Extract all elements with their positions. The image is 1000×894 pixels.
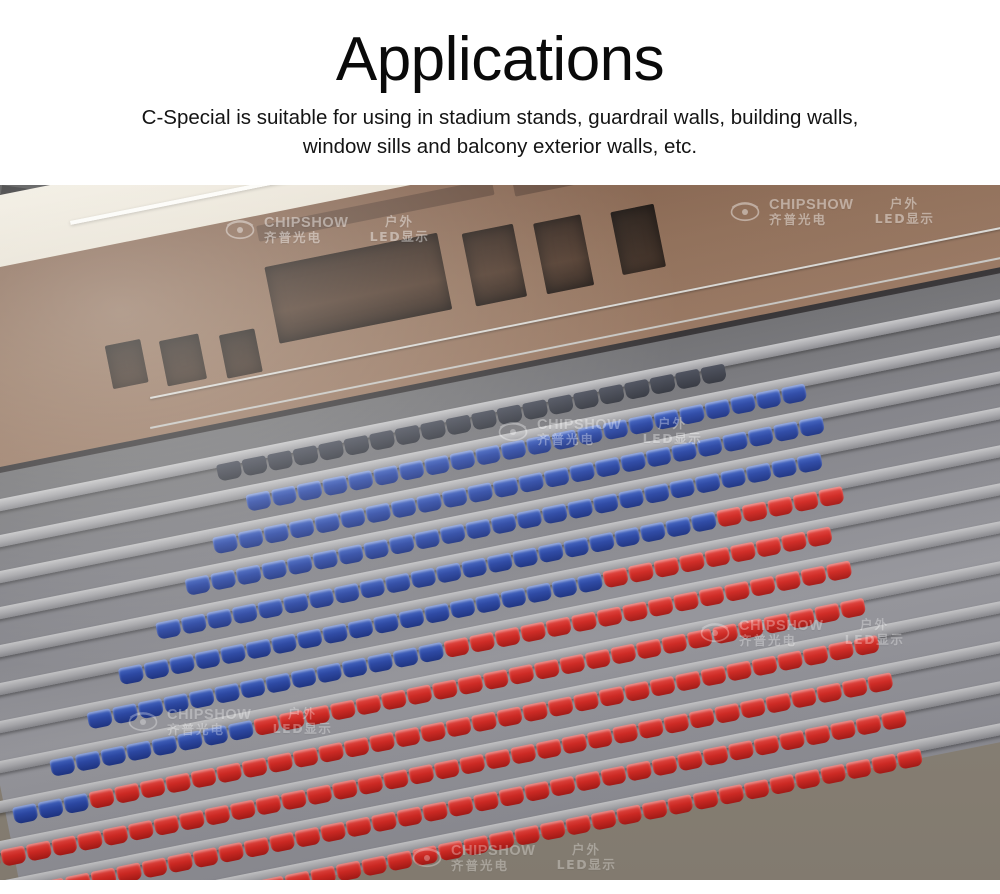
stadium-seat	[292, 747, 319, 768]
stadium-seat	[577, 572, 604, 593]
stadium-seat	[649, 676, 676, 697]
stadium-seat	[320, 822, 347, 843]
stadium-seat	[643, 483, 670, 504]
stadium-seat	[777, 650, 804, 671]
stadium-seat	[465, 519, 492, 540]
stadium-seat	[818, 486, 845, 507]
stadium-seat	[190, 767, 217, 788]
stadium-seat	[443, 637, 470, 658]
stadium-seat	[526, 582, 553, 603]
stadium-seat	[491, 513, 518, 534]
stadium-seat	[126, 740, 153, 761]
stadium-seat	[202, 725, 229, 746]
watermark-brand-cn: 齐普光电	[739, 634, 824, 648]
led-art-player-yellow	[291, 463, 385, 557]
stadium-seat	[367, 652, 394, 673]
stadium-seat	[449, 598, 476, 619]
stadium-seat	[538, 542, 565, 563]
stadium-seat	[392, 647, 419, 668]
stadium-seat	[534, 659, 561, 680]
stadium-seat	[826, 560, 853, 581]
stadium-seat	[432, 679, 459, 700]
stadium-seat	[469, 632, 496, 653]
stadium-seat	[585, 649, 612, 670]
stadium-seat	[726, 660, 753, 681]
stadium-seat	[700, 666, 727, 687]
stadium-seat	[781, 531, 808, 552]
watermark-brand-en: CHIPSHOW	[167, 707, 252, 723]
stadium-seat	[90, 867, 117, 880]
stadium-seat	[702, 745, 729, 766]
stadium-seat	[422, 801, 449, 822]
stadium-seat	[194, 649, 221, 670]
stadium-seat	[755, 537, 782, 558]
seating-step	[0, 546, 1000, 789]
stadium-seat	[220, 644, 247, 665]
stadium-seat	[508, 664, 535, 685]
seat-group	[0, 748, 923, 880]
stadium-seat	[241, 757, 268, 778]
wall-opening	[462, 224, 527, 307]
stadium-seat	[49, 756, 76, 777]
stadium-seat	[610, 644, 637, 665]
stadium-seat	[589, 532, 616, 553]
stadium-seat	[791, 688, 818, 709]
stadium-seat	[687, 628, 714, 649]
stadium-seat	[616, 804, 643, 825]
stadium-seat	[500, 588, 527, 609]
stadium-seat	[698, 586, 725, 607]
stadium-seat	[177, 730, 204, 751]
stadium-seat	[290, 667, 317, 688]
stadium-seat	[232, 603, 259, 624]
page-subtitle-line-2: window sills and balcony exterior walls,…	[100, 132, 900, 161]
stadium-seat	[345, 816, 372, 837]
stadium-seat	[100, 745, 127, 766]
stadium-seat	[510, 744, 537, 765]
stadium-seat	[489, 830, 516, 851]
stadium-seat	[420, 722, 447, 743]
wall-beam	[512, 185, 711, 197]
stadium-seat	[341, 657, 368, 678]
stadium-seat	[418, 642, 445, 663]
led-art-player-red	[371, 436, 483, 545]
stadium-seat	[749, 576, 776, 597]
stadium-seat	[516, 508, 543, 529]
stadium-seat	[167, 852, 194, 873]
stadium-seat	[210, 570, 237, 591]
stadium-seat	[336, 860, 363, 880]
watermark-brand-en: CHIPSHOW	[739, 618, 824, 634]
stadium-seat	[593, 493, 620, 514]
stadium-seat	[75, 751, 102, 772]
stadium-seat	[622, 601, 649, 622]
stadium-seat	[494, 627, 521, 648]
stadium-seat	[204, 805, 231, 826]
stadium-seat	[793, 491, 820, 512]
stadium-seat	[598, 686, 625, 707]
stadium-seat	[802, 645, 829, 666]
stadium-seat	[473, 791, 500, 812]
stadium-seat	[612, 723, 639, 744]
stadium-seat	[87, 708, 114, 729]
stadium-seat	[663, 713, 690, 734]
stadium-seat	[447, 796, 474, 817]
stadium-seat	[694, 473, 721, 494]
stadium-seat	[445, 716, 472, 737]
stadium-seat	[334, 583, 361, 604]
watermark-brand-cn: 齐普光电	[167, 723, 252, 737]
stadium-seat	[665, 517, 692, 538]
stadium-seat	[383, 769, 410, 790]
stadium-seat	[567, 498, 594, 519]
stadium-seat	[304, 705, 331, 726]
seating-row	[0, 586, 1000, 843]
stadium-seat	[767, 496, 794, 517]
stadium-seat	[651, 755, 678, 776]
stadium-seat	[689, 708, 716, 729]
seating-step	[0, 708, 1000, 880]
watermark-tagline-2: LED显示	[557, 858, 617, 873]
stadium-seat	[751, 655, 778, 676]
stadium-seat	[675, 671, 702, 692]
stadium-seat	[155, 618, 182, 639]
stadium-seat	[265, 673, 292, 694]
stadium-seat	[740, 698, 767, 719]
stadium-seat	[128, 820, 155, 841]
stadium-seat	[236, 564, 263, 585]
stadium-seat	[677, 750, 704, 771]
stadium-seat	[744, 779, 771, 800]
watermark-tagline-2: LED显示	[273, 722, 333, 737]
stadium-seat	[640, 522, 667, 543]
stadium-seat	[440, 524, 467, 545]
stadium-seat	[667, 794, 694, 815]
stadium-seat	[714, 703, 741, 724]
stadium-seat	[88, 788, 115, 809]
stadium-seat	[438, 840, 465, 861]
watermark-tagline-1: 户外	[288, 707, 317, 722]
stadium-seat	[0, 845, 27, 866]
watermark-bottom-center: CHIPSHOW 齐普光电 户外 LED显示	[412, 843, 616, 873]
stadium-seat	[306, 784, 333, 805]
stadium-seat	[830, 720, 857, 741]
stadium-seat	[257, 598, 284, 619]
stadium-seat	[816, 682, 843, 703]
stadium-seat	[520, 622, 547, 643]
stadium-seat	[881, 709, 908, 730]
stadium-seat	[398, 608, 425, 629]
stadium-seat	[283, 593, 310, 614]
stadium-seat	[896, 748, 923, 769]
stadium-seat	[228, 720, 255, 741]
stadium-seat	[679, 552, 706, 573]
stadium-seat	[549, 776, 576, 797]
stadium-seat	[642, 799, 669, 820]
wall-opening	[105, 339, 149, 389]
stadium-seat	[461, 557, 488, 578]
stadium-seat	[742, 501, 769, 522]
stadium-seat	[112, 703, 139, 724]
stadium-seat	[310, 866, 337, 880]
stadium-seat	[575, 771, 602, 792]
stadium-seat	[179, 810, 206, 831]
stadium-seat	[591, 809, 618, 830]
stadium-seat	[261, 559, 288, 580]
stadium-seat	[371, 811, 398, 832]
stadium-seat	[638, 718, 665, 739]
stadium-seat	[216, 762, 243, 783]
watermark-tagline-1: 户外	[860, 618, 889, 633]
stadium-seat	[294, 827, 321, 848]
stadium-seat	[718, 784, 745, 805]
stadium-seat	[243, 837, 270, 858]
watermark-brand-en: CHIPSHOW	[451, 843, 536, 859]
stadium-seat	[587, 728, 614, 749]
stadium-seat	[279, 710, 306, 731]
stadium-seat	[385, 573, 412, 594]
wall-opening	[219, 328, 263, 378]
stadium-seat	[487, 552, 514, 573]
stadium-seat	[840, 598, 867, 619]
stadium-seat	[691, 512, 718, 533]
seat-group	[87, 560, 853, 729]
stadium-seat	[626, 760, 653, 781]
stadium-seat	[628, 562, 655, 583]
stadium-seat	[381, 689, 408, 710]
stadium-seat	[653, 557, 680, 578]
stadium-seat	[255, 795, 282, 816]
stadium-seat	[296, 628, 323, 649]
stadium-seat	[387, 850, 414, 871]
stadium-seat	[624, 681, 651, 702]
stadium-seat	[369, 732, 396, 753]
stadium-seat	[373, 613, 400, 634]
stadium-seat	[281, 789, 308, 810]
stadium-seat	[561, 733, 588, 754]
seating-row	[0, 626, 1000, 880]
stadium-seat	[514, 825, 541, 846]
stadium-seat	[483, 669, 510, 690]
stadium-seat	[547, 696, 574, 717]
stadium-seat	[724, 581, 751, 602]
stadium-seat	[63, 793, 90, 814]
stadium-seat	[563, 537, 590, 558]
stadium-seat	[77, 830, 104, 851]
stadium-seat	[151, 735, 178, 756]
stadium-seat	[137, 698, 164, 719]
stadium-seat	[846, 759, 873, 780]
stadium-seat	[51, 835, 78, 856]
stadium-seat	[571, 611, 598, 632]
wall-opening	[159, 333, 207, 386]
stadium-seat	[496, 706, 523, 727]
stadium-seat	[551, 577, 578, 598]
seating-step	[0, 626, 1000, 869]
stadium-seat	[459, 754, 486, 775]
wall-opening	[264, 233, 452, 344]
stadium-seat	[434, 759, 461, 780]
header-section: Applications C-Special is suitable for u…	[0, 0, 1000, 185]
stadium-seat	[712, 623, 739, 644]
stadium-seat	[239, 678, 266, 699]
stadium-seat	[332, 779, 359, 800]
stadium-seat	[600, 766, 627, 787]
stadium-seat	[153, 815, 180, 836]
stadium-seat	[65, 873, 92, 880]
stadium-seat	[185, 575, 212, 596]
chipshow-eye-logo-icon	[128, 707, 158, 737]
watermark-brand: CHIPSHOW 齐普光电	[451, 843, 536, 873]
stadium-seat	[0, 851, 2, 872]
stadium-seat	[457, 674, 484, 695]
stadium-seat	[673, 591, 700, 612]
stadium-seat	[308, 588, 335, 609]
stadium-seat	[143, 659, 170, 680]
seat-group	[0, 709, 908, 880]
stadium-seat	[614, 527, 641, 548]
player-leg	[412, 503, 432, 539]
stadium-seat	[871, 753, 898, 774]
page-subtitle-line-1: C-Special is suitable for using in stadi…	[100, 103, 900, 132]
stadium-seat	[424, 603, 451, 624]
stadium-seat	[389, 534, 416, 555]
stadium-seat	[316, 662, 343, 683]
stadium-seat	[485, 749, 512, 770]
stadium-seat	[118, 664, 145, 685]
stadium-seat	[842, 677, 869, 698]
stadium-seat	[814, 603, 841, 624]
stadium-seat	[775, 571, 802, 592]
bottom-white-strip	[0, 880, 1000, 894]
stadium-seat	[436, 562, 463, 583]
stadium-seat	[738, 618, 765, 639]
stadium-seat	[218, 842, 245, 863]
stadium-seat	[661, 633, 688, 654]
page-title: Applications	[0, 0, 1000, 91]
stadium-seat	[355, 695, 382, 716]
stadium-seat	[37, 798, 64, 819]
stadium-seat	[704, 547, 731, 568]
stadium-seat	[271, 633, 298, 654]
wall-opening	[610, 204, 666, 275]
stadium-seat	[471, 711, 498, 732]
stadium-seat	[720, 468, 747, 489]
stadium-seat	[820, 764, 847, 785]
stadium-seat	[573, 691, 600, 712]
stadium-seat	[669, 478, 696, 499]
seating-step	[0, 586, 1000, 829]
stadium-seat	[867, 672, 894, 693]
stadium-seat	[253, 715, 280, 736]
stadium-seat	[285, 871, 312, 880]
stadium-seat	[522, 701, 549, 722]
stadium-seat	[475, 593, 502, 614]
seat-group	[12, 635, 880, 824]
watermark-stands-right: CHIPSHOW 齐普光电 户外 LED显示	[700, 618, 904, 648]
watermark-tagline: 户外 LED显示	[557, 843, 617, 873]
stadium-seat	[716, 506, 743, 527]
stadium-seat	[795, 769, 822, 790]
stadium-seat	[763, 613, 790, 634]
stadium-seat	[206, 608, 233, 629]
stadium-seat	[396, 806, 423, 827]
watermark-tagline-1: 户外	[572, 843, 601, 858]
stadium-seat	[141, 857, 168, 878]
stadium-seat	[230, 800, 257, 821]
watermark-tagline-2: LED显示	[845, 633, 905, 648]
stadium-seat	[361, 855, 388, 876]
stadium-seat	[394, 727, 421, 748]
watermark-stands-left: CHIPSHOW 齐普光电 户外 LED显示	[128, 707, 332, 737]
stadium-photo: FOOTBALL CHAMPIONSHIP	[0, 185, 1000, 880]
stadium-seat	[800, 566, 827, 587]
stadium-seat	[116, 862, 143, 880]
stadium-seat	[267, 752, 294, 773]
stadium-seat	[412, 845, 439, 866]
stadium-seat	[322, 623, 349, 644]
watermark-brand-cn: 齐普光电	[451, 859, 536, 873]
chipshow-eye-logo-icon	[412, 843, 442, 873]
stadium-seat	[730, 542, 757, 563]
stadium-seat	[542, 503, 569, 524]
stadium-seat	[647, 596, 674, 617]
watermark-tagline: 户外 LED显示	[845, 618, 905, 648]
stadium-seat	[524, 781, 551, 802]
watermark-brand: CHIPSHOW 齐普光电	[167, 707, 252, 737]
stadium-seat	[245, 638, 272, 659]
seating-step	[0, 666, 1000, 880]
stadium-seat	[188, 688, 215, 709]
stadium-seat	[636, 638, 663, 659]
stadium-seat	[114, 783, 141, 804]
seating-row	[0, 708, 1000, 880]
stadium-seat	[536, 738, 563, 759]
watermark-tagline: 户外 LED显示	[273, 707, 333, 737]
seat-group	[49, 598, 866, 777]
stadium-seat	[618, 488, 645, 509]
stadium-seat	[855, 715, 882, 736]
stadium-seat	[408, 764, 435, 785]
stadium-seat	[853, 635, 880, 656]
player-bib-patch	[745, 402, 759, 415]
stadium-seat	[828, 640, 855, 661]
seat-group	[0, 672, 894, 872]
stadium-seat	[165, 773, 192, 794]
stadium-seat	[12, 803, 39, 824]
stadium-seat	[139, 778, 166, 799]
stadium-seat	[406, 684, 433, 705]
stadium-seat	[463, 835, 490, 856]
stadium-seat	[559, 654, 586, 675]
stadium-seat	[602, 567, 629, 588]
stadium-seat	[359, 578, 386, 599]
seating-row	[0, 666, 1000, 880]
stadium-seat	[596, 606, 623, 627]
wall-opening	[533, 214, 594, 294]
stadium-seat	[753, 735, 780, 756]
applications-page: Applications C-Special is suitable for u…	[0, 0, 1000, 894]
stadium-seat	[804, 725, 831, 746]
stadium-seat	[269, 832, 296, 853]
stadium-seat	[169, 654, 196, 675]
page-subtitle: C-Special is suitable for using in stadi…	[100, 91, 900, 161]
stadium-seat	[565, 815, 592, 836]
stadium-seat	[512, 547, 539, 568]
stadium-seat	[214, 683, 241, 704]
chipshow-eye-logo-icon	[700, 618, 730, 648]
stadium-seat	[789, 608, 816, 629]
